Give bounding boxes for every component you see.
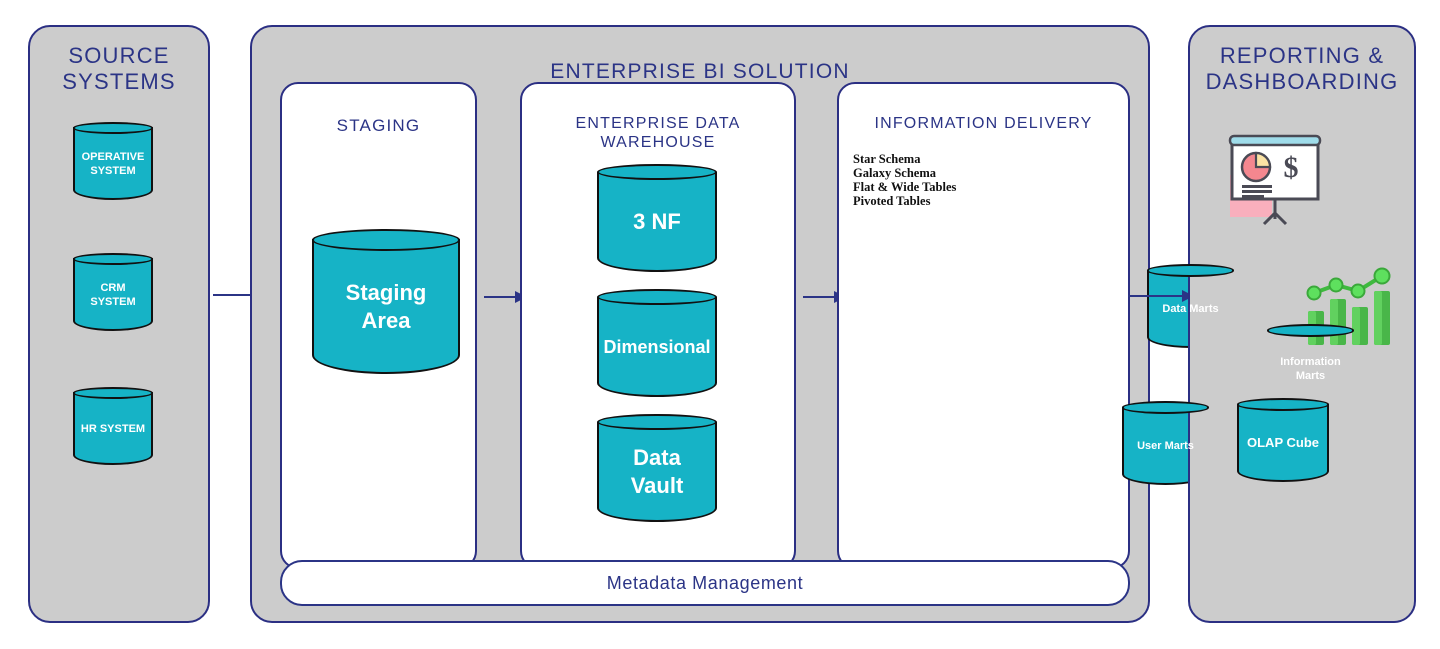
presentation-chart-icon: $: [1222, 127, 1332, 227]
cylinder-operative-system: OPERATIVE SYSTEM: [73, 122, 153, 200]
metadata-management-bar: Metadata Management: [280, 560, 1130, 606]
cylinder-label: HR SYSTEM: [73, 396, 153, 462]
cylinder-data-marts: Data Marts: [1147, 264, 1234, 348]
cylinder-data-vault: Data Vault: [597, 414, 717, 522]
information-delivery-title: INFORMATION DELIVERY: [839, 115, 1128, 134]
cylinder-3nf: 3 NF: [597, 164, 717, 272]
svg-text:$: $: [1284, 151, 1299, 184]
cylinder-information-marts: Information Marts: [1267, 324, 1354, 408]
list-item: Galaxy Schema: [853, 166, 956, 180]
staging-title: STAGING: [282, 116, 475, 136]
cylinder-label: OPERATIVE SYSTEM: [73, 131, 153, 197]
reporting-dashboarding-title: REPORTING & DASHBOARDING: [1190, 43, 1414, 95]
cylinder-user-marts: User Marts: [1122, 401, 1209, 485]
cylinder-hr-system: HR SYSTEM: [73, 387, 153, 465]
edw-title: ENTERPRISE DATA WAREHOUSE: [522, 115, 794, 153]
edw-panel: ENTERPRISE DATA WAREHOUSE 3 NF Dimension…: [520, 82, 796, 569]
cylinder-label: Staging Area: [312, 246, 460, 368]
cylinder-label: 3 NF: [597, 177, 717, 268]
source-systems-panel: SOURCE SYSTEMS OPERATIVE SYSTEM CRM SYST…: [28, 25, 210, 623]
cylinder-label: OLAP Cube: [1237, 408, 1329, 479]
cylinder-label: CRM SYSTEM: [73, 262, 153, 328]
cylinder-label: Data Vault: [597, 427, 717, 518]
metadata-management-label: Metadata Management: [607, 573, 804, 594]
cylinder-label: User Marts: [1122, 411, 1209, 482]
cylinder-olap-cube: OLAP Cube: [1237, 398, 1329, 482]
list-item: Star Schema: [853, 152, 956, 166]
cylinder-label: Data Marts: [1147, 274, 1234, 345]
cylinder-dimensional: Dimensional: [597, 289, 717, 397]
cylinder-staging-area: Staging Area: [312, 229, 460, 374]
information-delivery-panel: INFORMATION DELIVERY Star Schema Galaxy …: [837, 82, 1130, 569]
cylinder-label: Dimensional: [597, 302, 717, 393]
list-item: Pivoted Tables: [853, 194, 956, 208]
information-delivery-list: Star Schema Galaxy Schema Flat & Wide Ta…: [853, 152, 956, 208]
source-systems-title: SOURCE SYSTEMS: [30, 43, 208, 95]
list-item: Flat & Wide Tables: [853, 180, 956, 194]
cylinder-crm-system: CRM SYSTEM: [73, 253, 153, 331]
enterprise-bi-panel: ENTERPRISE BI SOLUTION STAGING Staging A…: [250, 25, 1150, 623]
cylinder-label: Information Marts: [1267, 334, 1354, 405]
staging-panel: STAGING Staging Area: [280, 82, 477, 569]
